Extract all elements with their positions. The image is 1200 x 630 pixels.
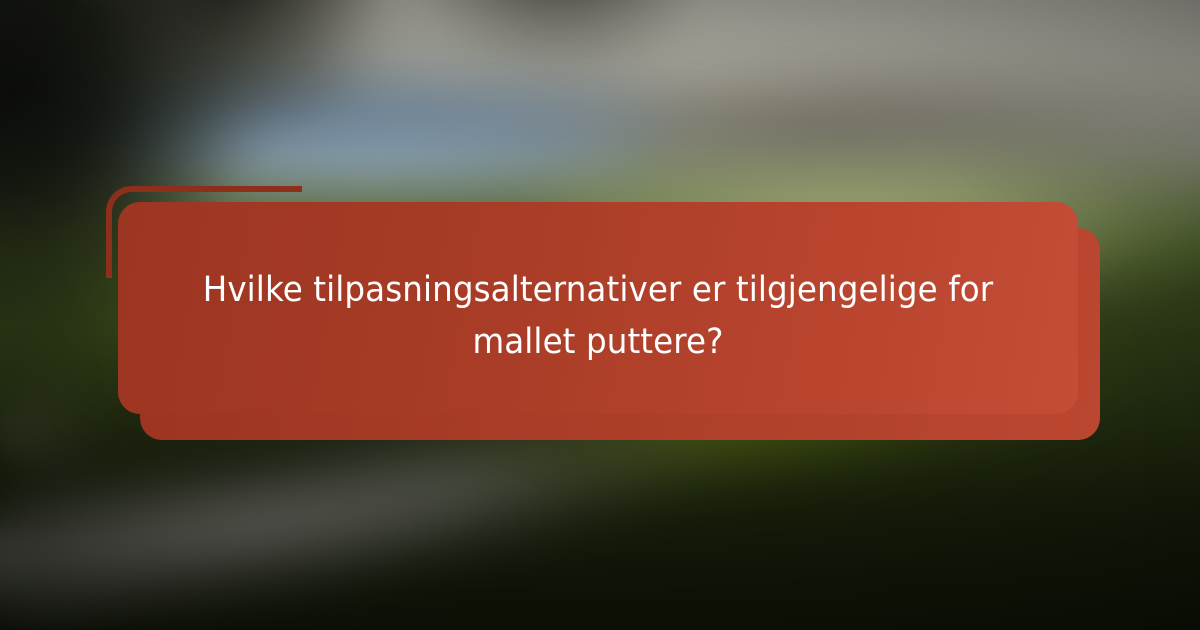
question-card-content: Hvilke tilpasningsalternativer er tilgje…: [118, 202, 1078, 432]
question-text: Hvilke tilpasningsalternativer er tilgje…: [202, 265, 994, 369]
question-card-banner: Hvilke tilpasningsalternativer er tilgje…: [0, 0, 1200, 630]
